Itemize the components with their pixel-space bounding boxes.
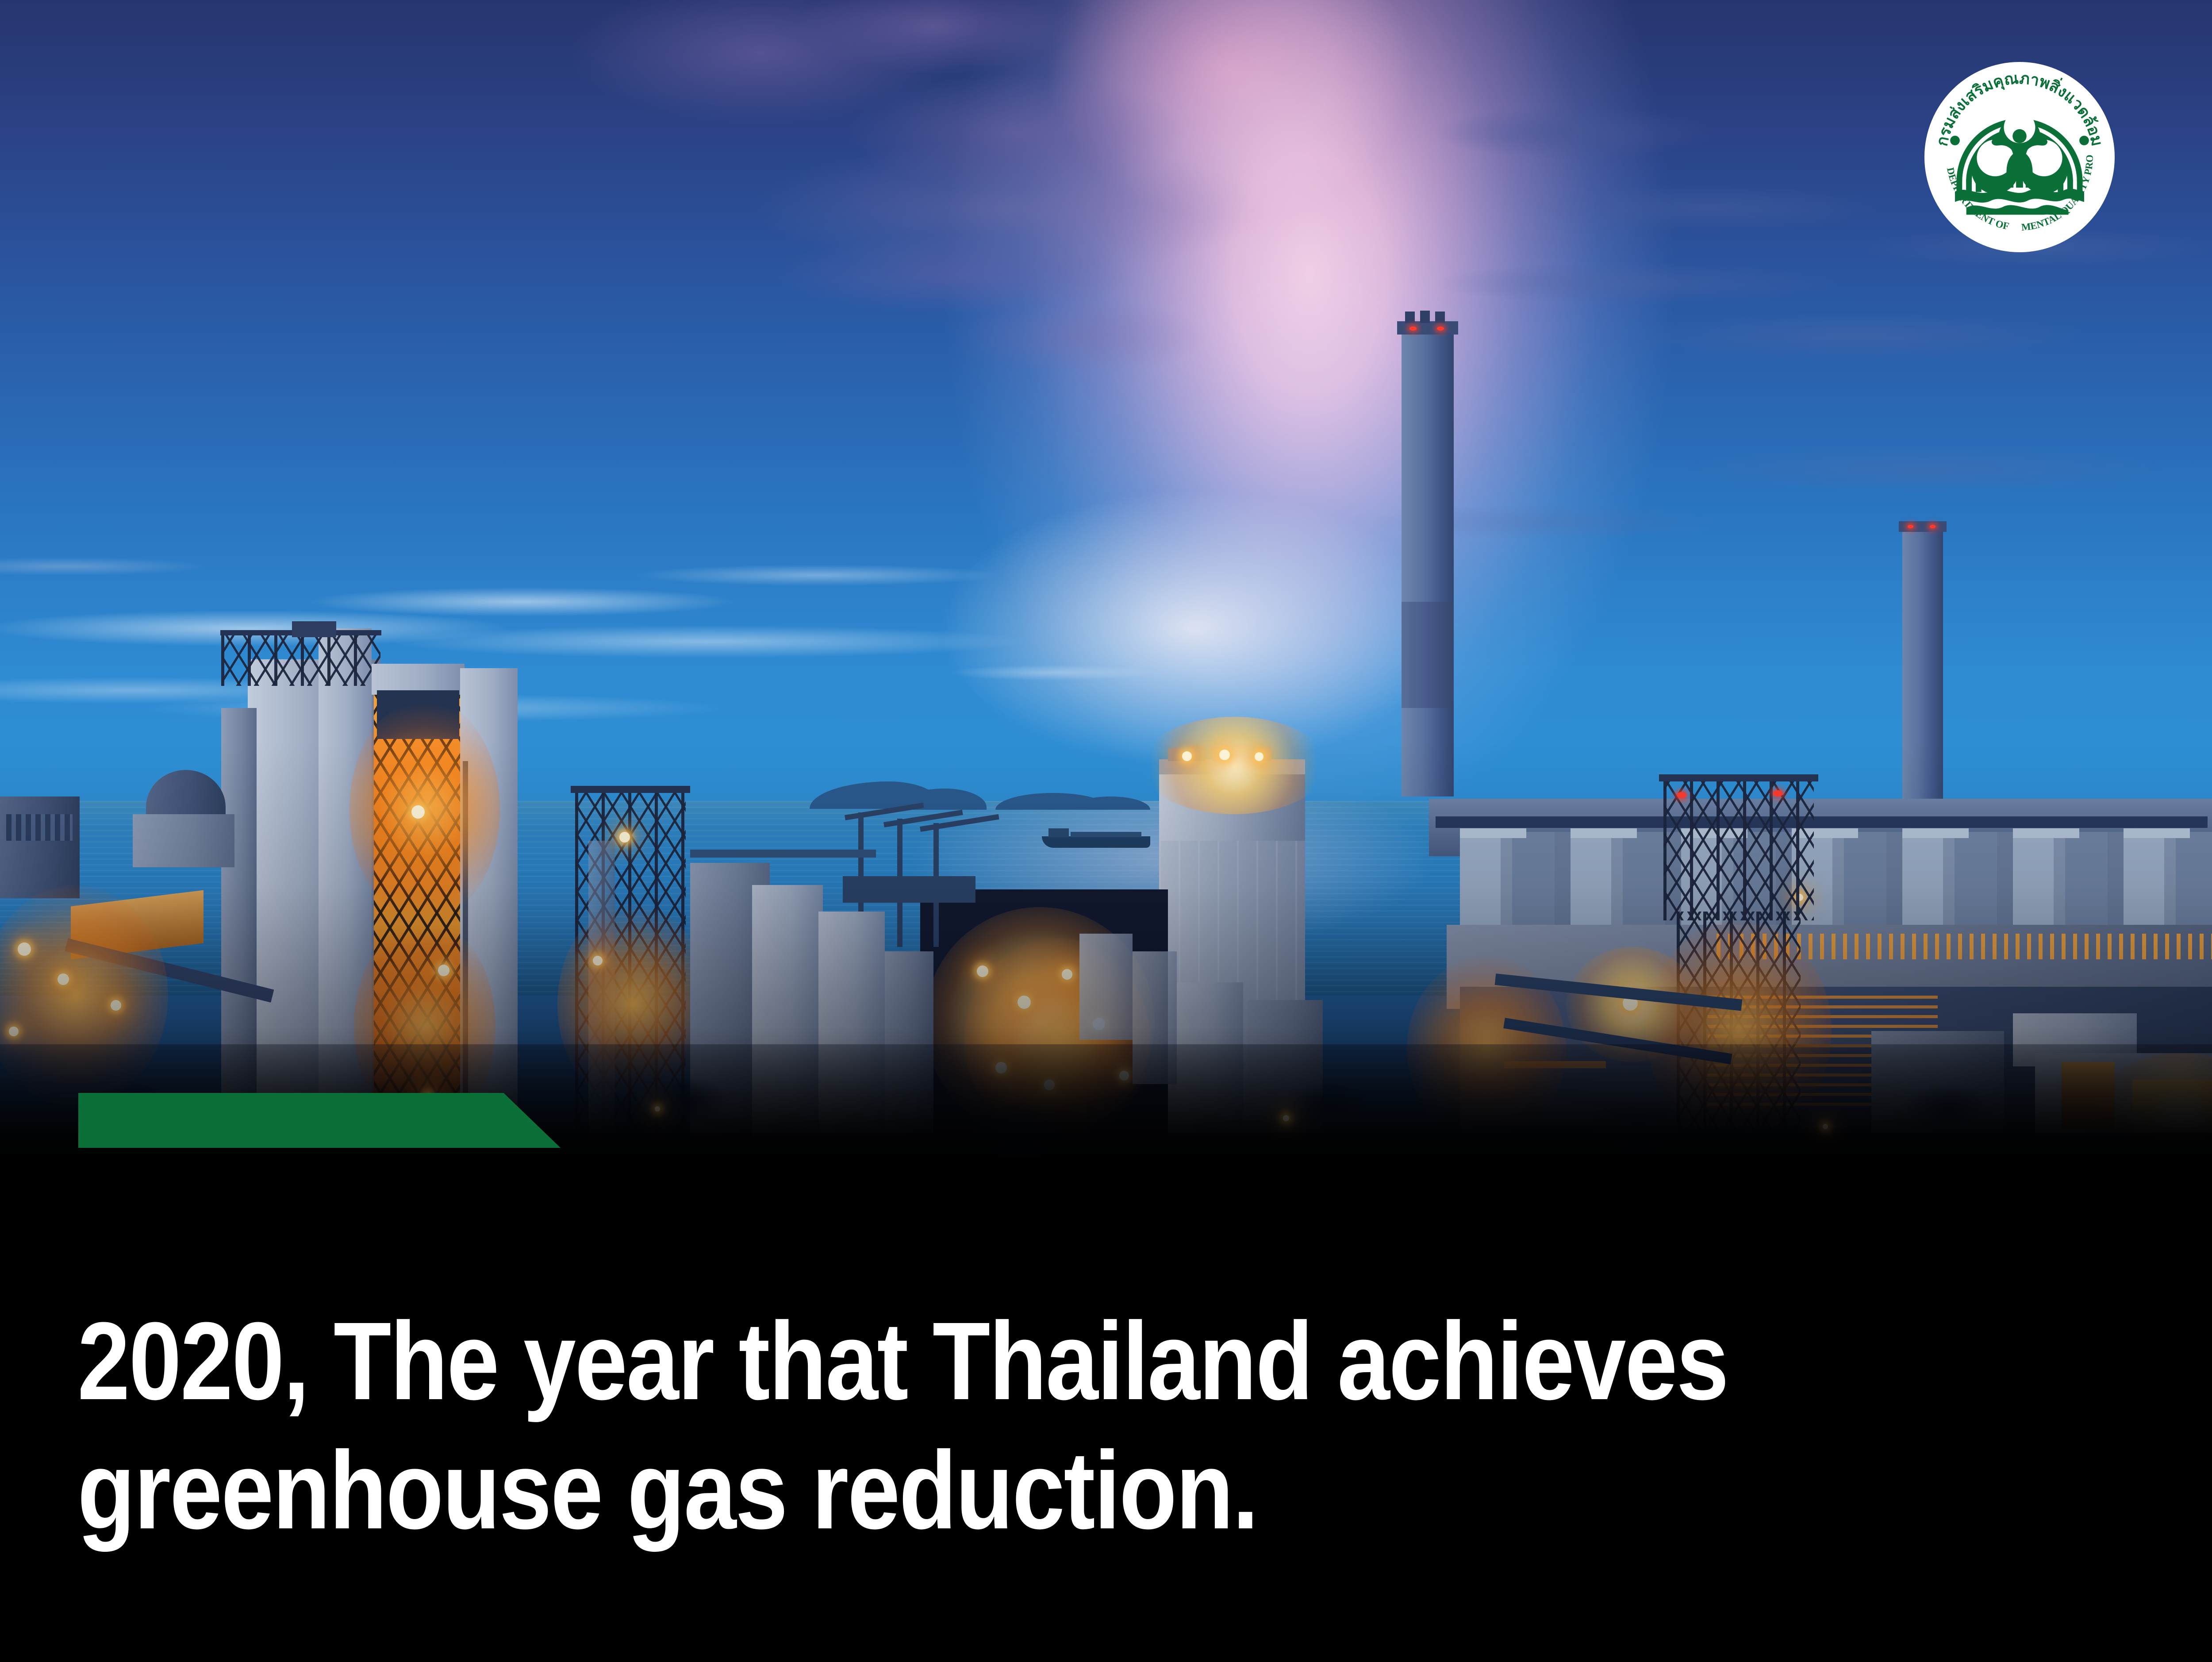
silo-nub: [1190, 745, 1205, 761]
warning-light: [1773, 790, 1783, 796]
lamp: [593, 956, 603, 966]
tower-top-steelwork: [221, 633, 380, 686]
power-station-shadow-band: [1436, 816, 2208, 828]
left-building: [0, 796, 80, 898]
smokestack-right: [1902, 527, 1943, 810]
green-accent-ribbon: [78, 1093, 561, 1148]
smokestack-centre-nub: [1405, 312, 1415, 323]
aviation-warning-light: [1930, 525, 1935, 528]
lamp: [977, 966, 988, 977]
tower-dark-window: [377, 690, 459, 739]
lattice-tower-cap: [571, 786, 690, 793]
lamp: [1255, 752, 1263, 761]
industrial-plant: [0, 0, 2212, 1195]
lamp: [1182, 751, 1192, 761]
lamp: [655, 1106, 660, 1112]
smokestack-centre-nub: [1420, 311, 1430, 323]
smokestack-centre-band: [1402, 602, 1454, 708]
smokestack-centre: [1402, 327, 1454, 796]
lamp: [619, 832, 630, 843]
warning-light: [1677, 792, 1686, 798]
background-photo: [0, 0, 2212, 1195]
lamp: [1018, 996, 1031, 1009]
silo-cap: [1159, 759, 1305, 774]
gantry-cap: [1659, 774, 1818, 781]
aviation-warning-light: [1409, 327, 1417, 331]
headline-line-1: 2020, The year that Thailand achieves: [77, 1297, 1855, 1426]
kiln-body: [133, 814, 234, 867]
lamp: [18, 943, 31, 956]
lamp: [1283, 1115, 1289, 1121]
left-building-windows: [6, 814, 73, 841]
aviation-warning-light: [1437, 327, 1444, 331]
smokestack-right-cap: [1899, 521, 1947, 532]
poster-canvas: กรมส่งเสริมคุณภาพสิ่งแวดล้อม DEPPARTMENT…: [0, 0, 2212, 1662]
lamp: [111, 1000, 121, 1011]
headline-line-2: greenhouse gas reduction.: [77, 1426, 1855, 1555]
lamp: [1219, 750, 1230, 760]
silo-nub: [1168, 748, 1183, 761]
port-crane-gantry: [843, 876, 975, 903]
lamp: [9, 1027, 19, 1036]
conveyor-bridge: [690, 850, 876, 858]
silo-nub: [1234, 745, 1249, 761]
smokestack-centre-nub: [1435, 312, 1445, 323]
organization-logo[interactable]: กรมส่งเสริมคุณภาพสิ่งแวดล้อม DEPPARTMENT…: [1924, 61, 2116, 253]
smokestack-centre-cap: [1397, 321, 1458, 335]
aviation-warning-light: [1908, 525, 1913, 528]
equipment-block: [1079, 934, 1133, 1040]
lamp: [438, 965, 449, 976]
lamp: [1062, 969, 1072, 980]
sawtooth-roof-caps: [1460, 828, 2212, 838]
lamp: [411, 805, 425, 819]
gantry-steelwork: [1663, 779, 1814, 920]
lamp: [58, 973, 69, 985]
tower-top-housing: [292, 621, 336, 637]
page-title: 2020, The year that Thailand achieves gr…: [77, 1297, 1855, 1555]
lamp: [1823, 1124, 1828, 1129]
